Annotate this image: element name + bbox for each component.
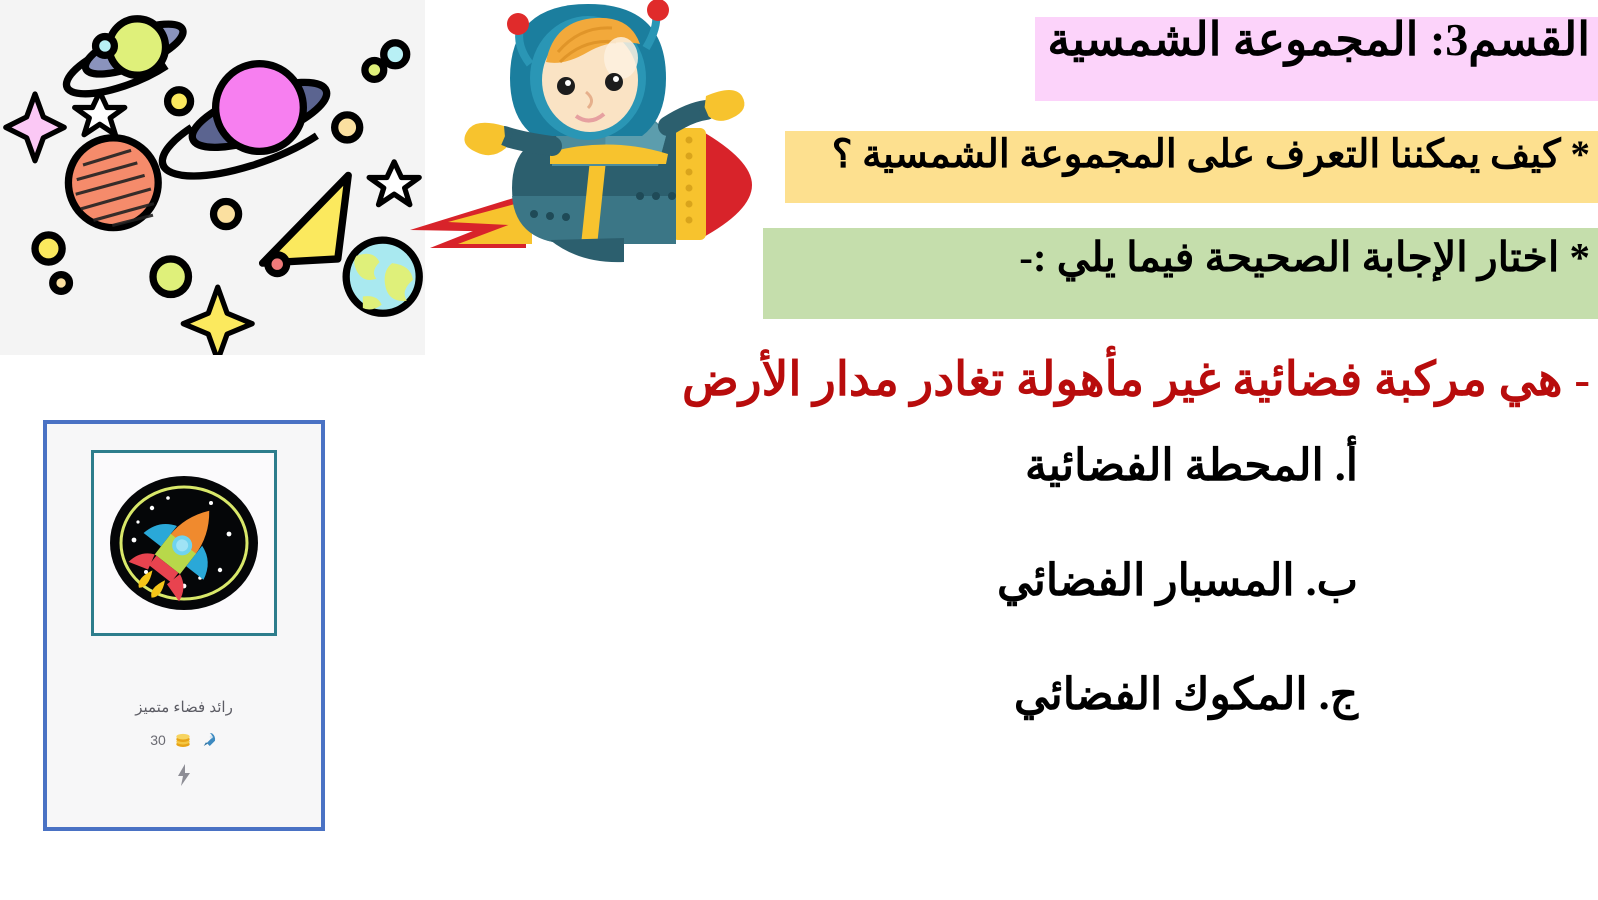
answer-option-c[interactable]: ج. المكوك الفضائي — [1014, 672, 1358, 718]
lesson-question: * كيف يمكننا التعرف على المجموعة الشمسية… — [390, 133, 1590, 178]
badge-card[interactable]: رائد فضاء متميز 30 — [43, 420, 325, 831]
answer-option-a[interactable]: أ. المحطة الفضائية — [1025, 443, 1358, 489]
slide-canvas: القسم3: المجموعة الشمسية * كيف يمكننا ال… — [0, 0, 1598, 900]
badge-count: 30 — [150, 732, 166, 748]
rocket-icon — [200, 731, 218, 749]
badge-title: رائد فضاء متميز — [135, 698, 233, 716]
section-title: القسم3: المجموعة الشمسية — [390, 14, 1590, 67]
space-scene-illustration — [0, 0, 425, 355]
answer-option-b[interactable]: ب. المسبار الفضائي — [997, 558, 1358, 604]
badge-bolt-wrap — [176, 764, 192, 791]
badge-stats: 30 — [150, 730, 218, 750]
rocket-medal-icon — [108, 474, 260, 612]
instruction-text: * اختار الإجابة الصحيحة فيما يلي :- — [390, 235, 1590, 281]
badge-image-frame — [91, 450, 277, 636]
question-stem: - هي مركبة فضائية غير مأهولة تغادر مدار … — [390, 352, 1590, 409]
coins-icon — [173, 730, 193, 750]
lightning-bolt-icon — [176, 764, 192, 786]
